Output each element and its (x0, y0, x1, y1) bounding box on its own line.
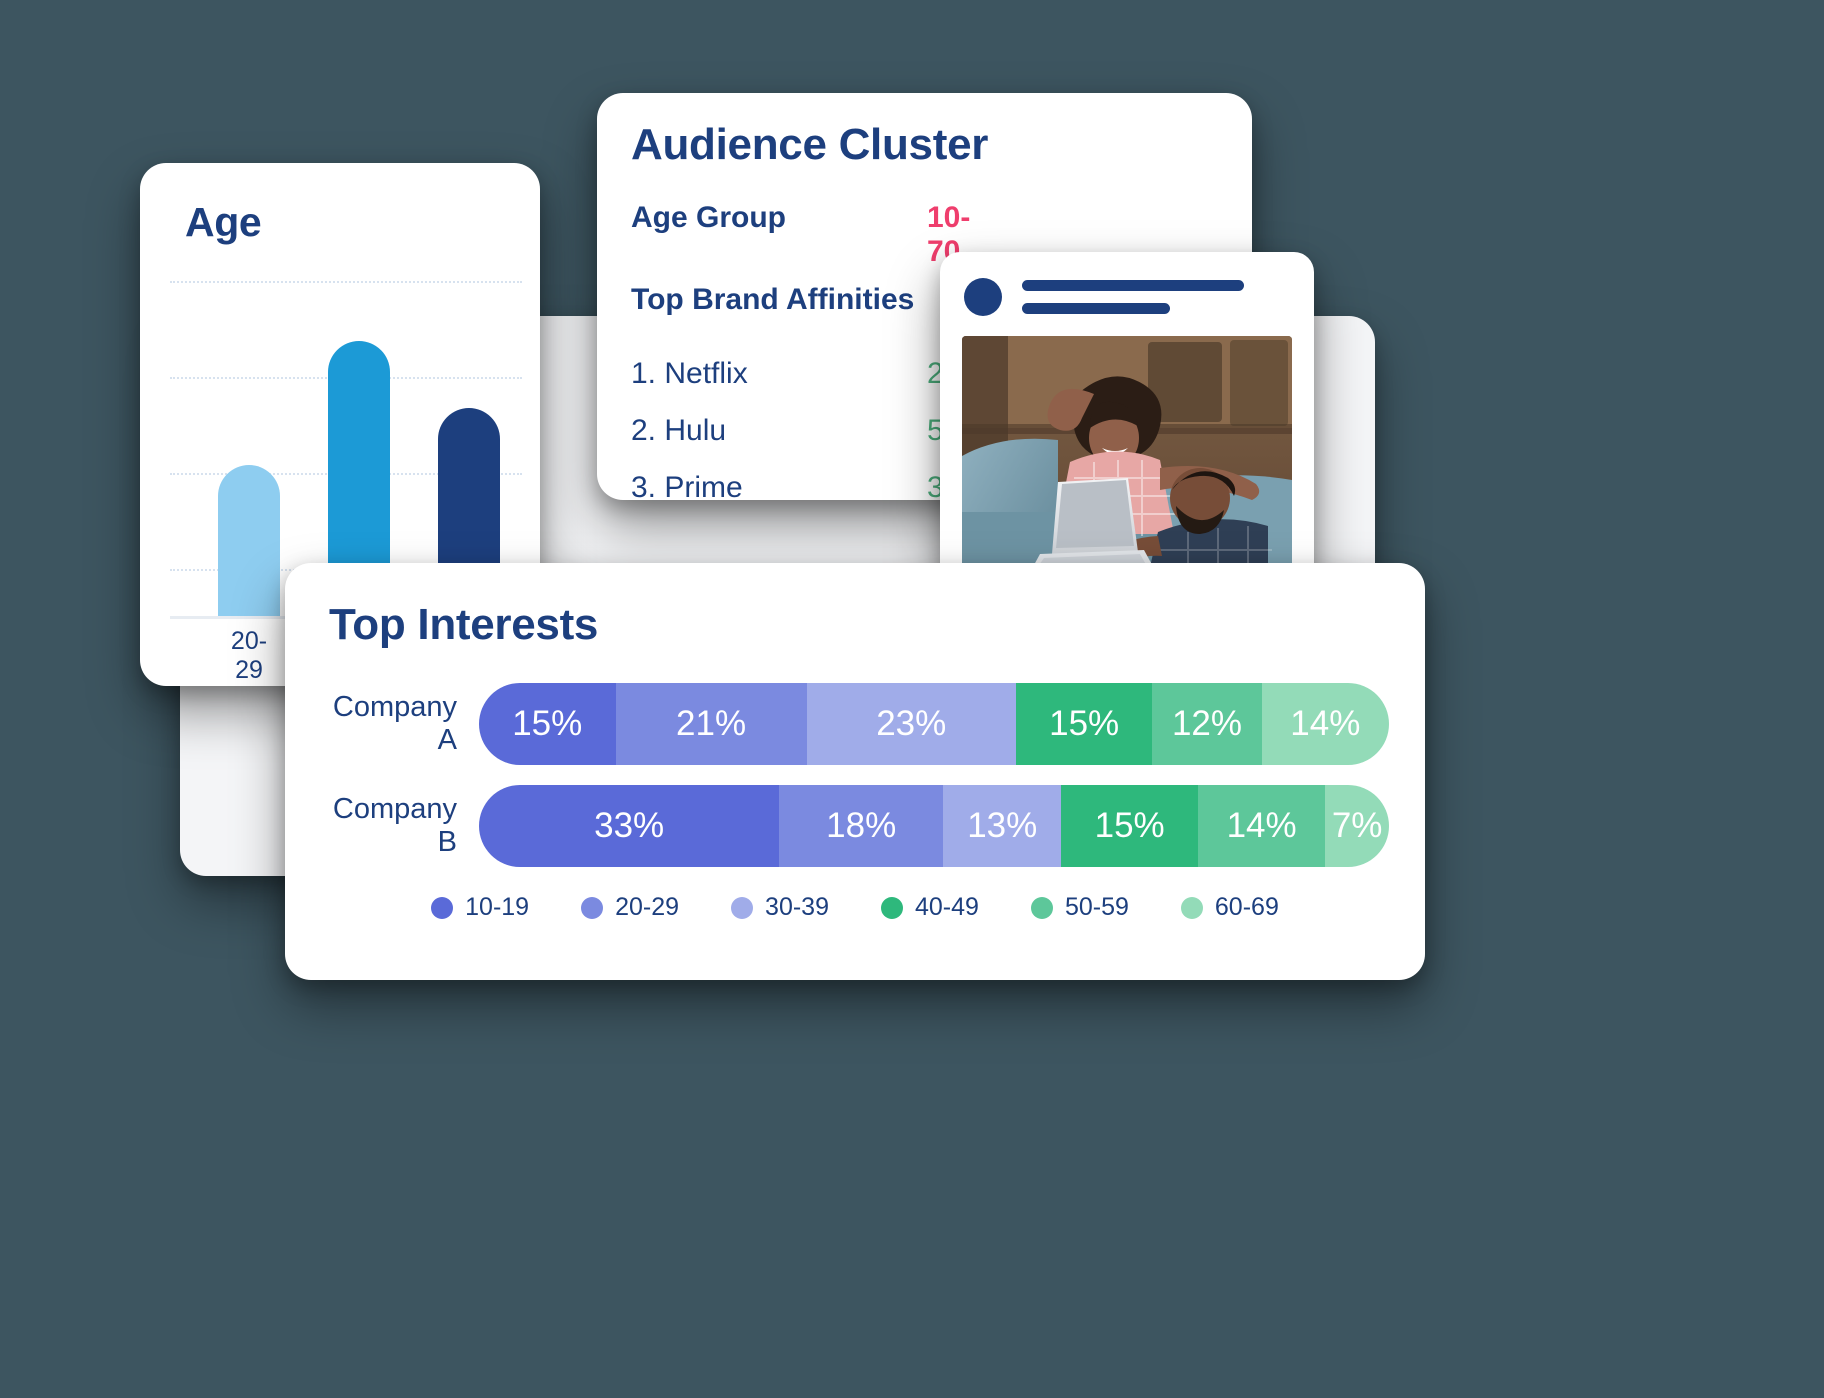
placeholder-line (1022, 303, 1170, 314)
post-placeholder-lines (1022, 280, 1244, 314)
top-interests-title: Top Interests (329, 600, 598, 650)
legend-item[interactable]: 50-59 (1031, 893, 1129, 922)
dashboard-stage: Age 20-29 Audience Cluster Age Group 10-… (0, 0, 1824, 1398)
placeholder-line (1022, 280, 1244, 291)
age-bar[interactable] (218, 465, 280, 616)
interest-row-company-a: Company A 15%21%23%15%12%14% (329, 683, 1389, 765)
avatar-circle-icon (964, 278, 1002, 316)
bar-segment[interactable]: 15% (1016, 683, 1153, 765)
legend-item[interactable]: 60-69 (1181, 893, 1279, 922)
brand-affinities-heading: Top Brand Affinities (631, 283, 914, 317)
legend-label: 10-19 (465, 893, 529, 922)
age-group-label: Age Group (631, 201, 786, 235)
legend-dot-icon (1031, 897, 1053, 919)
legend-dot-icon (1181, 897, 1203, 919)
brand-row: 2. Hulu 50% (631, 414, 961, 448)
brand-name: 2. Hulu (631, 414, 726, 448)
bar-segment[interactable]: 13% (943, 785, 1061, 867)
bar-segment[interactable]: 14% (1262, 683, 1389, 765)
legend-dot-icon (431, 897, 453, 919)
post-header (964, 278, 1244, 316)
legend-item[interactable]: 30-39 (731, 893, 829, 922)
bar-segment[interactable]: 14% (1198, 785, 1325, 867)
age-tick-label: 20-29 (218, 627, 280, 685)
bar-segment[interactable]: 33% (479, 785, 779, 867)
bar-segment[interactable]: 23% (807, 683, 1016, 765)
legend-dot-icon (731, 897, 753, 919)
bar-segment[interactable]: 15% (479, 683, 616, 765)
bar-segment[interactable]: 7% (1325, 785, 1389, 867)
audience-cluster-title: Audience Cluster (631, 120, 988, 170)
stacked-bar[interactable]: 15%21%23%15%12%14% (479, 683, 1389, 765)
legend-dot-icon (581, 897, 603, 919)
legend-item[interactable]: 40-49 (881, 893, 979, 922)
legend-label: 60-69 (1215, 893, 1279, 922)
legend-label: 30-39 (765, 893, 829, 922)
row-label: Company A (329, 691, 479, 757)
chart-legend: 10-1920-2930-3940-4950-5960-69 (285, 893, 1425, 922)
top-interests-card: Top Interests Company A 15%21%23%15%12%1… (285, 563, 1425, 980)
brand-name: 1. Netflix (631, 357, 748, 391)
age-group-row: Age Group 10-70 (631, 201, 961, 235)
legend-item[interactable]: 10-19 (431, 893, 529, 922)
legend-label: 50-59 (1065, 893, 1129, 922)
bar-segment[interactable]: 21% (616, 683, 807, 765)
legend-dot-icon (881, 897, 903, 919)
interest-row-company-b: Company B 33%18%13%15%14%7% (329, 785, 1389, 867)
legend-label: 20-29 (615, 893, 679, 922)
legend-item[interactable]: 20-29 (581, 893, 679, 922)
legend-label: 40-49 (915, 893, 979, 922)
brand-row: 3. Prime 33% (631, 471, 961, 505)
brand-affinities-heading-row: Top Brand Affinities (631, 283, 961, 317)
brand-row: 1. Netflix 28% (631, 357, 961, 391)
row-label: Company B (329, 793, 479, 859)
bar-segment[interactable]: 12% (1152, 683, 1261, 765)
age-card-title: Age (185, 199, 261, 246)
stacked-bar[interactable]: 33%18%13%15%14%7% (479, 785, 1389, 867)
bar-segment[interactable]: 15% (1061, 785, 1198, 867)
brand-name: 3. Prime (631, 471, 743, 505)
bar-segment[interactable]: 18% (779, 785, 943, 867)
